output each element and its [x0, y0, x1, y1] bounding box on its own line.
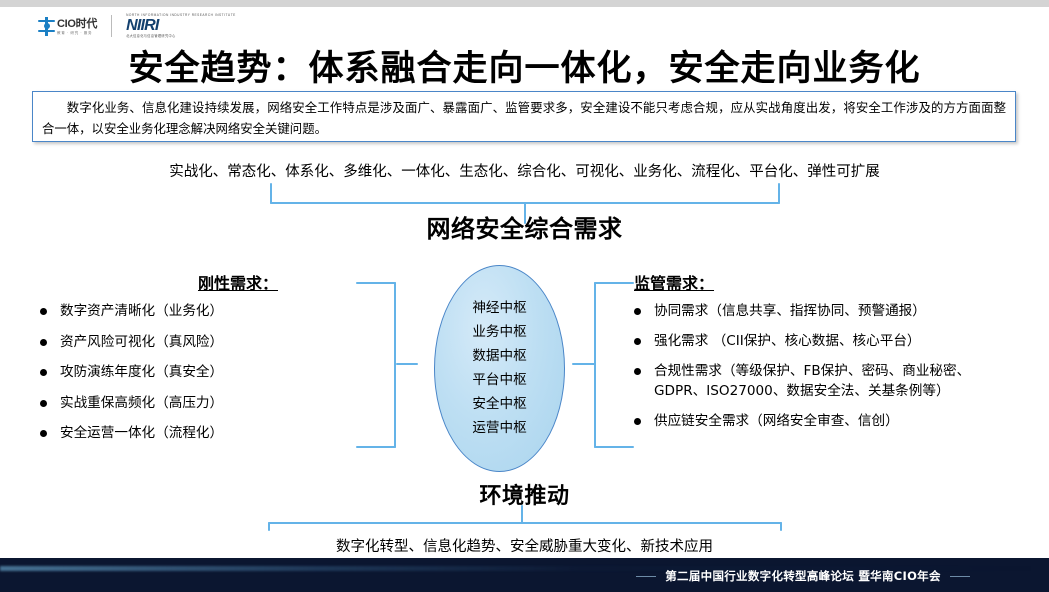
left-bracket-connector [344, 282, 418, 448]
bottom-bracket-connector [268, 505, 782, 531]
bullet-dot-icon [634, 368, 641, 375]
slide-canvas: CIO时代 教育 · 研究 · 服务 NORTH INFORMATION IND… [0, 0, 1049, 592]
list-item: 合规性需求（等级保护、FB保护、密码、商业秘密、GDPR、ISO27000、数据… [634, 361, 1034, 401]
list-item: 供应链安全需求（网络安全审查、信创） [634, 411, 1034, 431]
brand-logo-group: CIO时代 教育 · 研究 · 服务 NORTH INFORMATION IND… [38, 13, 236, 39]
top-grey-strip [0, 0, 1049, 7]
cio-logo-text: CIO时代 [57, 19, 97, 30]
bullet-dot-icon [634, 338, 641, 345]
footer-rule-right [950, 576, 970, 577]
regulatory-requirements-column: 监管需求： 协同需求（信息共享、指挥协同、预警通报） 强化需求 （CII保护、核… [634, 270, 1034, 441]
hub-item: 神经中枢 [472, 298, 526, 319]
list-item: 安全运营一体化（流程化） [40, 423, 340, 443]
list-item-label: 攻防演练年度化（真安全） [60, 362, 223, 382]
list-item: 攻防演练年度化（真安全） [40, 362, 340, 382]
niiri-logo-wordmark: NIIRI [126, 18, 158, 34]
list-item: 协同需求（信息共享、指挥协同、预警通报） [634, 301, 1034, 321]
regulatory-requirements-title: 监管需求： [634, 270, 1034, 294]
list-item-label: 合规性需求（等级保护、FB保护、密码、商业秘密、GDPR、ISO27000、数据… [654, 361, 1009, 401]
hub-item: 业务中枢 [472, 322, 526, 343]
list-item-label: 强化需求 （CII保护、核心数据、核心平台） [654, 331, 1009, 351]
bullet-dot-icon [40, 369, 47, 376]
bullet-dot-icon [634, 308, 641, 315]
list-item: 强化需求 （CII保护、核心数据、核心平台） [634, 331, 1034, 351]
list-item-label: 安全运营一体化（流程化） [60, 423, 223, 443]
list-item-label: 协同需求（信息共享、指挥协同、预警通报） [654, 301, 1009, 321]
footer-event-title: 第二届中国行业数字化转型高峰论坛 暨华南CIO年会 [660, 568, 946, 584]
footer-band: 第二届中国行业数字化转型高峰论坛 暨华南CIO年会 [0, 558, 1049, 592]
cio-logo-subtext: 教育 · 研究 · 服务 [57, 32, 97, 36]
list-item: 实战重保高频化（高压力） [40, 393, 340, 413]
list-item: 资产风险可视化（真风险） [40, 332, 340, 352]
hub-item: 平台中枢 [472, 370, 526, 391]
intro-paragraph: 数字化业务、信息化建设持续发展，网络安全工作特点是涉及面广、暴露面广、监管要求多… [33, 92, 1015, 139]
keywords-line: 实战化、常态化、体系化、多维化、一体化、生态化、综合化、可视化、业务化、流程化、… [0, 160, 1049, 181]
footer-rule-left [636, 576, 656, 577]
intro-callout-box: 数字化业务、信息化建设持续发展，网络安全工作特点是涉及面广、暴露面广、监管要求多… [32, 91, 1016, 142]
list-item-label: 供应链安全需求（网络安全审查、信创） [654, 411, 1009, 431]
bullet-dot-icon [40, 339, 47, 346]
bottom-drivers-line: 数字化转型、信息化趋势、安全威胁重大变化、新技术应用 [0, 535, 1049, 556]
hub-item: 数据中枢 [472, 346, 526, 367]
cio-logo: CIO时代 教育 · 研究 · 服务 [38, 17, 97, 36]
central-hub-ellipse: 神经中枢 业务中枢 数据中枢 平台中枢 安全中枢 运营中枢 [434, 265, 565, 472]
hub-item: 运营中枢 [472, 418, 526, 439]
bullet-dot-icon [40, 430, 47, 437]
cio-emblem-icon [38, 17, 55, 36]
list-item-label: 数字资产清晰化（业务化） [60, 301, 223, 321]
list-item-label: 实战重保高频化（高压力） [60, 393, 223, 413]
rigid-requirements-title: 刚性需求： [40, 270, 340, 294]
logo-divider [111, 15, 112, 37]
page-title: 安全趋势：体系融合走向一体化，安全走向业务化 [0, 40, 1049, 91]
bullet-dot-icon [40, 308, 47, 315]
hub-item: 安全中枢 [472, 394, 526, 415]
niiri-logo: NORTH INFORMATION INDUSTRY RESEARCH INST… [126, 14, 236, 38]
top-bracket-connector [270, 183, 780, 205]
list-item-label: 资产风险可视化（真风险） [60, 332, 223, 352]
bullet-dot-icon [634, 418, 641, 425]
list-item: 数字资产清晰化（业务化） [40, 301, 340, 321]
rigid-requirements-column: 刚性需求： 数字资产清晰化（业务化） 资产风险可视化（真风险） 攻防演练年度化（… [40, 270, 340, 454]
center-heading: 网络安全综合需求 [0, 209, 1049, 244]
niiri-logo-bottomtext: 北大信息化与信息管理研究中心 [126, 35, 176, 38]
bullet-dot-icon [40, 400, 47, 407]
